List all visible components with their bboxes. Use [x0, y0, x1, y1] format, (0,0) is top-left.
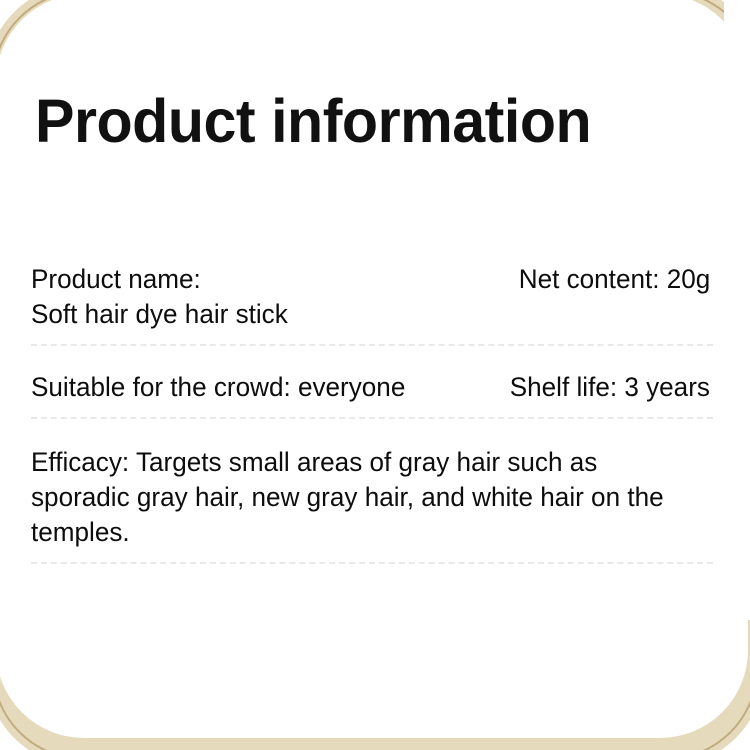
spec-row-efficacy: Efficacy: Targets small areas of gray ha…: [31, 431, 713, 562]
spec-efficacy: Efficacy: Targets small areas of gray ha…: [31, 445, 693, 550]
page-title: Product information: [35, 86, 591, 156]
spec-net-content: Net content: 20g: [501, 262, 710, 297]
card-content: Product information Product name: Soft h…: [0, 0, 750, 750]
divider-1: [31, 344, 713, 346]
spec-row-product-name: Product name: Soft hair dye hair stick N…: [31, 258, 713, 344]
spec-row-crowd: Suitable for the crowd: everyone Shelf l…: [31, 358, 713, 417]
product-information-card: Product information Product name: Soft h…: [0, 0, 750, 750]
divider-3: [31, 562, 713, 564]
spec-shelf-life: Shelf life: 3 years: [492, 370, 710, 405]
spec-product-name-label: Product name:: [31, 264, 201, 294]
spec-product-name-text: Soft hair dye hair stick: [31, 297, 288, 332]
spec-suitable-crowd: Suitable for the crowd: everyone: [31, 370, 405, 405]
specification-table: Product name: Soft hair dye hair stick N…: [31, 258, 713, 576]
spec-product-name-value: Product name: Soft hair dye hair stick: [31, 262, 288, 332]
divider-2: [31, 417, 713, 419]
